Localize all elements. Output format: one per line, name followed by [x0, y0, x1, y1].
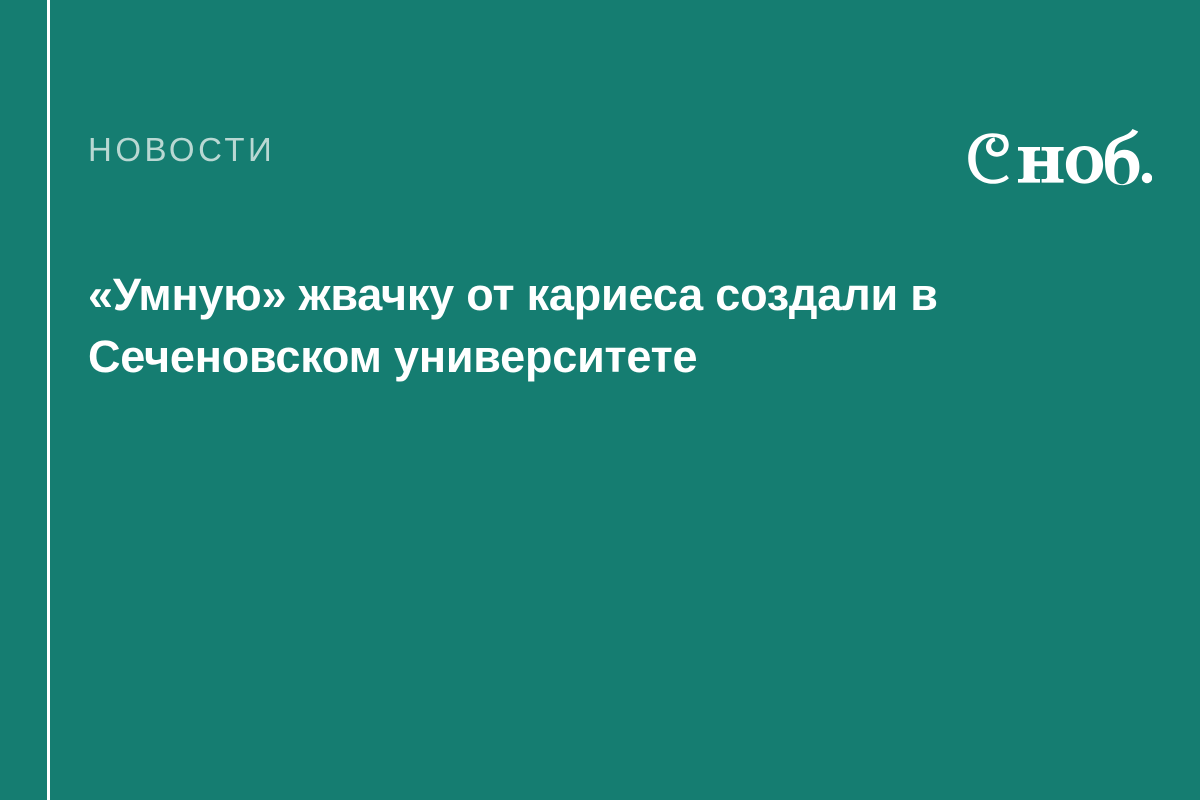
headline: «Умную» жвачку от кариеса создали в Сече…: [88, 264, 1068, 388]
section-kicker: НОВОСТИ: [88, 133, 275, 166]
news-card: НОВОСТИ «Умную» жвачку от кариеса создал: [0, 0, 1200, 800]
left-vertical-rule: [47, 0, 50, 800]
card-header: НОВОСТИ: [88, 125, 1152, 191]
snob-logo-icon: [962, 127, 1152, 189]
snob-logo[interactable]: [962, 125, 1152, 191]
